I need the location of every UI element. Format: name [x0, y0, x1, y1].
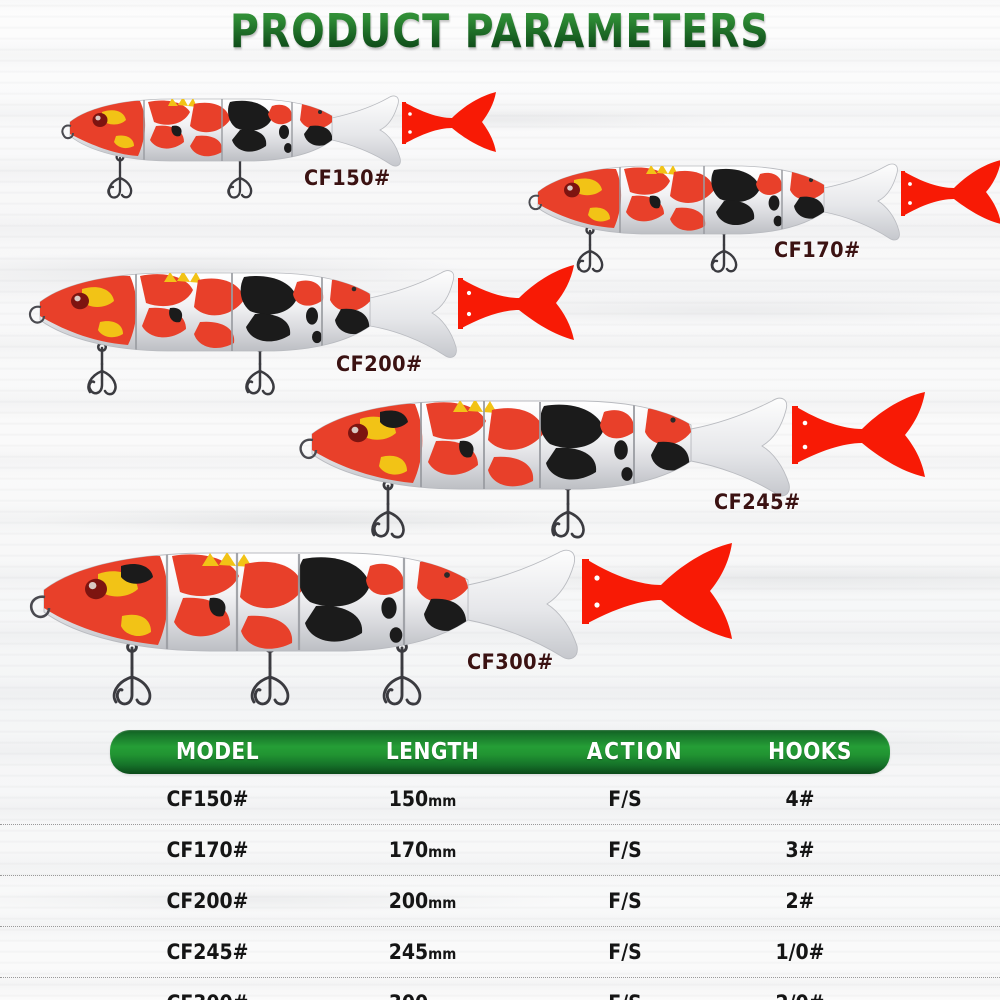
table-row: CF150# 150mm F/S 4# [0, 774, 1000, 825]
spare-red-tail [402, 92, 496, 152]
treble-hook [108, 154, 131, 198]
cell-model: CF245# [111, 940, 305, 964]
cell-length-value: 245 [389, 940, 428, 964]
cell-model: CF300# [111, 991, 305, 1000]
cell-length-value: 200 [389, 889, 428, 913]
cell-action: F/S [540, 838, 711, 862]
spare-red-tail [792, 392, 925, 477]
lure-label-cf245: CF245# [714, 490, 801, 514]
cell-hooks: 2# [728, 889, 872, 913]
cell-model: CF150# [111, 787, 305, 811]
cell-length-unit: mm [428, 792, 456, 810]
lure-gallery: CF150# [0, 0, 1000, 726]
table-row: CF245# 245mm F/S 1/0# [0, 927, 1000, 978]
table-header-hooks: HOOKS [740, 739, 881, 765]
product-parameters-page: PRODUCT PARAMETERS [0, 0, 1000, 1000]
lure-image-cf245 [282, 378, 922, 538]
cell-length-unit: mm [428, 894, 456, 912]
lure-eye [85, 579, 107, 599]
lure-eye [71, 293, 89, 310]
lure-label-cf200: CF200# [336, 352, 423, 376]
cell-hooks: 3# [728, 838, 872, 862]
lure-item-cf300: CF300# [12, 528, 732, 708]
cell-length-unit: mm [428, 945, 456, 963]
table-row: CF300# 300mm F/S 2/0# [0, 978, 1000, 1000]
lure-label-cf300: CF300# [467, 650, 554, 674]
cell-hooks: 1/0# [728, 940, 872, 964]
cell-model: CF200# [111, 889, 305, 913]
cell-length: 245mm [326, 940, 520, 964]
treble-hook [384, 643, 420, 704]
table-header-action: ACTION [551, 739, 718, 765]
page-title: PRODUCT PARAMETERS [230, 4, 770, 58]
cell-length-value: 300 [389, 991, 428, 1000]
cell-length-unit: mm [428, 843, 456, 861]
lure-item-cf170: CF170# [512, 146, 992, 276]
lure-soft-tail [691, 398, 789, 496]
cell-length-unit: mm [428, 996, 456, 1000]
lure-image-cf170 [512, 146, 992, 276]
lure-image-cf200 [12, 252, 572, 397]
lure-soft-tail [332, 96, 400, 166]
table-header-row: MODEL LENGTH ACTION HOOKS [110, 730, 890, 774]
lure-item-cf200: CF200# [12, 252, 572, 397]
spare-red-tail [901, 160, 1000, 224]
cell-hooks: 4# [728, 787, 872, 811]
spare-red-tail [582, 543, 732, 639]
page-title-bar: PRODUCT PARAMETERS [0, 4, 1000, 58]
cell-action: F/S [540, 940, 711, 964]
cell-length-value: 170 [389, 838, 428, 862]
lure-eye [348, 424, 368, 442]
lure-eye [93, 113, 108, 127]
lure-item-cf150: CF150# [44, 78, 524, 198]
lure-soft-tail [824, 164, 899, 240]
lure-soft-tail [468, 550, 577, 658]
cell-length: 170mm [326, 838, 520, 862]
lure-soft-tail [370, 271, 456, 358]
lure-image-cf150 [44, 78, 524, 198]
cell-action: F/S [540, 787, 711, 811]
cell-length: 200mm [326, 889, 520, 913]
treble-hook [114, 643, 150, 704]
table-header-length: LENGTH [338, 739, 527, 765]
lure-label-cf150: CF150# [304, 166, 391, 190]
lure-image-cf300 [12, 528, 732, 708]
cell-action: F/S [540, 991, 711, 1000]
cell-length: 150mm [326, 787, 520, 811]
lure-item-cf245: CF245# [282, 378, 922, 538]
lure-eye [564, 183, 580, 198]
cell-hooks: 2/0# [728, 991, 872, 1000]
cell-length-value: 150 [389, 787, 428, 811]
cell-model: CF170# [111, 838, 305, 862]
treble-hook [89, 343, 116, 394]
cell-length: 300mm [326, 991, 520, 1000]
cell-action: F/S [540, 889, 711, 913]
table-row: CF170# 170mm F/S 3# [0, 825, 1000, 876]
treble-hook [252, 643, 288, 704]
table-row: CF200# 200mm F/S 2# [0, 876, 1000, 927]
spec-table: MODEL LENGTH ACTION HOOKS CF150# 150mm F… [0, 730, 1000, 1000]
table-header-model: MODEL [123, 739, 312, 765]
table-body: CF150# 150mm F/S 4# CF170# 170mm F/S 3# … [0, 774, 1000, 1000]
lure-label-cf170: CF170# [774, 238, 861, 262]
treble-hook [578, 227, 602, 272]
spare-red-tail [458, 265, 574, 340]
